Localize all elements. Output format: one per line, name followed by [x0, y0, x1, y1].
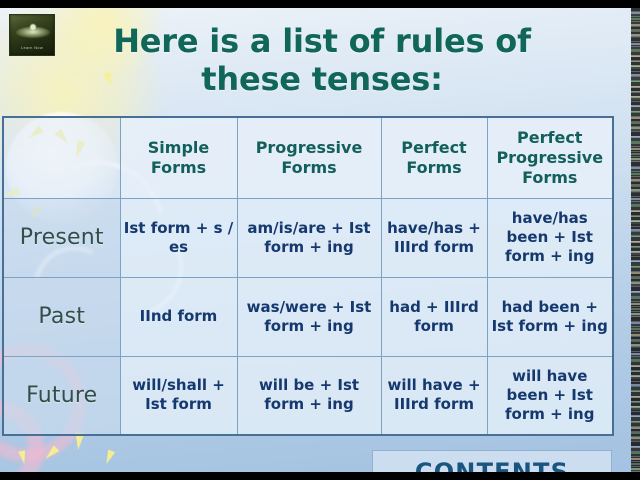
column-header-progressive-forms: Progressive Forms	[237, 117, 381, 198]
channel-logo[interactable]: Learn Now	[9, 14, 55, 56]
page-title-line-2: these tenses:	[62, 60, 582, 98]
letterbox-bar-bottom	[0, 472, 640, 480]
cell-past-perfect: had + IIIrd form	[381, 277, 487, 356]
column-header-perfect-forms: Perfect Forms	[381, 117, 487, 198]
table-corner-cell	[3, 117, 120, 198]
row-label-present: Present	[3, 198, 120, 277]
column-header-progressive-forms-line-1: Progressive	[241, 138, 378, 158]
logo-dot-icon	[30, 24, 36, 30]
table-row-future: Future will/shall + Ist form will be + I…	[3, 356, 613, 435]
column-header-perfect-forms-line-2: Forms	[385, 158, 484, 178]
letterbox-bar-top	[0, 0, 640, 8]
page-title-line-1: Here is a list of rules of	[62, 22, 582, 60]
logo-caption: Learn Now	[14, 44, 50, 51]
tenses-table: Simple Forms Progressive Forms Perfect F…	[2, 116, 614, 436]
column-header-perfect-progressive-forms-line-1: Perfect	[491, 128, 610, 148]
cell-future-simple: will/shall + Ist form	[120, 356, 237, 435]
cell-future-perfect: will have + IIIrd form	[381, 356, 487, 435]
sparkle-decoration-11	[18, 450, 28, 464]
cell-past-simple: IInd form	[120, 277, 237, 356]
cell-past-progressive: was/were + Ist form + ing	[237, 277, 381, 356]
table-header-row: Simple Forms Progressive Forms Perfect F…	[3, 117, 613, 198]
column-header-progressive-forms-line-2: Forms	[241, 158, 378, 178]
contents-button-label: CONTENTS	[415, 458, 569, 472]
cell-past-perfect-progressive: had been + Ist form + ing	[487, 277, 613, 356]
sparkle-decoration-10	[103, 449, 115, 465]
cell-present-simple: Ist form + s / es	[120, 198, 237, 277]
column-header-perfect-progressive-forms-line-3: Forms	[491, 168, 610, 188]
column-header-simple-forms-line-2: Forms	[124, 158, 234, 178]
cell-present-perfect-progressive: have/has been + Ist form + ing	[487, 198, 613, 277]
cell-present-progressive: am/is/are + Ist form + ing	[237, 198, 381, 277]
column-header-simple-forms: Simple Forms	[120, 117, 237, 198]
contents-button[interactable]: CONTENTS	[372, 450, 612, 472]
column-header-perfect-forms-line-1: Perfect	[385, 138, 484, 158]
column-header-perfect-progressive-forms-line-2: Progressive	[491, 148, 610, 168]
cell-future-perfect-progressive: will have been + Ist form + ing	[487, 356, 613, 435]
table-row-present: Present Ist form + s / es am/is/are + Is…	[3, 198, 613, 277]
column-header-perfect-progressive-forms: Perfect Progressive Forms	[487, 117, 613, 198]
slide-viewer: Learn Now Here is a list of rules of the…	[0, 0, 640, 480]
video-artifact-strip	[631, 8, 640, 472]
sparkle-decoration-9	[43, 445, 59, 461]
cell-future-progressive: will be + Ist form + ing	[237, 356, 381, 435]
column-header-simple-forms-line-1: Simple	[124, 138, 234, 158]
slide-canvas: Learn Now Here is a list of rules of the…	[0, 8, 640, 472]
cell-present-perfect: have/has + IIIrd form	[381, 198, 487, 277]
row-label-future: Future	[3, 356, 120, 435]
row-label-past: Past	[3, 277, 120, 356]
table-row-past: Past IInd form was/were + Ist form + ing…	[3, 277, 613, 356]
page-title: Here is a list of rules of these tenses:	[62, 22, 582, 98]
